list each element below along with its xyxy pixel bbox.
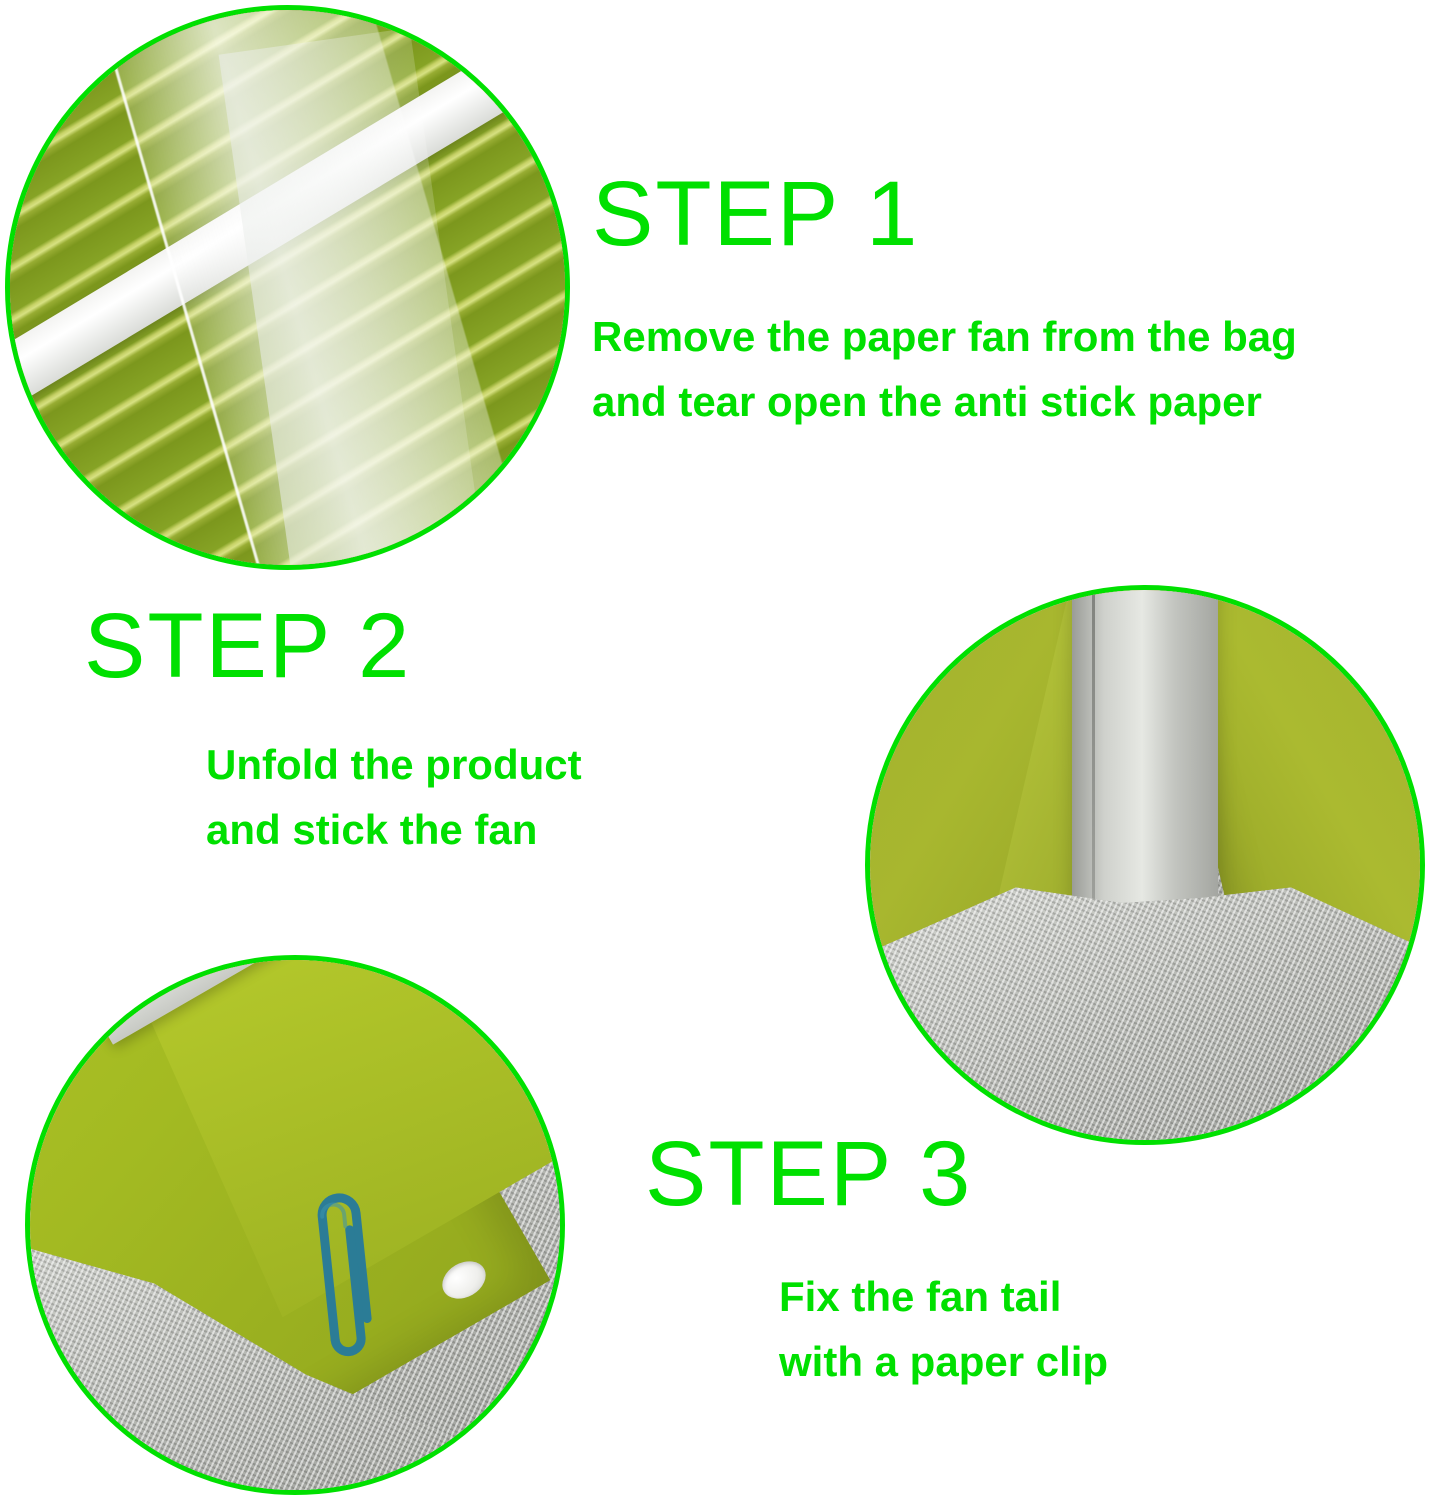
instruction-sheet: STEP 1 Remove the paper fan from the bag… (0, 0, 1437, 1500)
step-1-title: STEP 1 (592, 168, 1297, 260)
step-3-line-1: Fix the fan tail (779, 1264, 1108, 1329)
step-1-line-1: Remove the paper fan from the bag (592, 304, 1297, 369)
woven-fabric-foreground (865, 887, 1425, 1145)
step-2-line-2: and stick the fan (206, 797, 582, 862)
step-1-line-2: and tear open the anti stick paper (592, 369, 1297, 434)
pleated-fan-with-anti-stick-paper-photo (5, 5, 570, 570)
unfolded-fan-photo (865, 585, 1425, 1145)
step-3-line-2: with a paper clip (779, 1329, 1108, 1394)
step-2-line-1: Unfold the product (206, 732, 582, 797)
step-1-description: Remove the paper fan from the bag and te… (592, 304, 1297, 434)
step-2-text-block: STEP 2 Unfold the product and stick the … (80, 600, 582, 862)
step-3-text-block: STEP 3 Fix the fan tail with a paper cli… (645, 1128, 1108, 1394)
step-2-title: STEP 2 (84, 600, 582, 692)
step-3-description: Fix the fan tail with a paper clip (645, 1264, 1108, 1394)
step-2-description: Unfold the product and stick the fan (80, 732, 582, 862)
step-1-text-block: STEP 1 Remove the paper fan from the bag… (592, 168, 1297, 434)
step-3-title: STEP 3 (645, 1128, 1108, 1220)
fan-tail-with-paper-clip-photo (25, 955, 565, 1495)
